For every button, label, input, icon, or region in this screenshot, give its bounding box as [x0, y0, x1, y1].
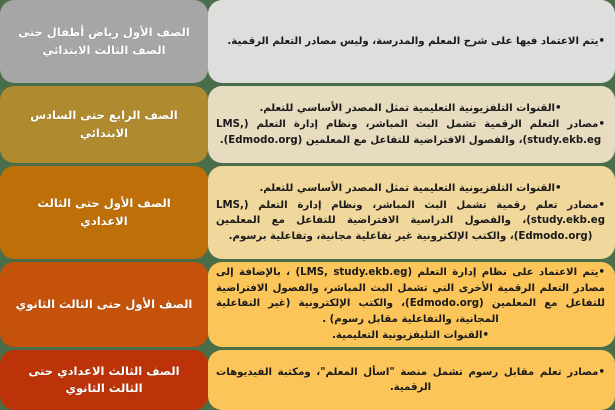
row-4-paragraph-1: •يتم الاعتماد على نظام إدارة التعلم (LMS… — [216, 265, 605, 327]
row-3-content-cell: •القنوات التلفزيونية التعليمية تمثل المص… — [208, 166, 615, 259]
row-4-content-cell: •يتم الاعتماد على نظام إدارة التعلم (LMS… — [208, 262, 615, 347]
row-3-grade-label: الصف الأول حتى الثالث الاعدادي — [12, 195, 196, 230]
row-2-paragraph-1: •القنوات التلفزيونية التعليمية تمثل المص… — [216, 101, 605, 117]
bullet-icon: • — [482, 330, 489, 341]
row-4-grade-label: الصف الأول حتى الثالث الثانوي — [16, 296, 193, 313]
table-row: •يتم الاعتماد فيها على شرح المعلم والمدر… — [0, 0, 615, 86]
bullet-icon: • — [598, 200, 605, 211]
row-3-paragraph-1: •القنوات التلفزيونية التعليمية تمثل المص… — [216, 181, 605, 197]
bullet-icon: • — [555, 103, 562, 114]
table-row: •مصادر تعلم مقابل رسوم تشمل منصة "اسأل ا… — [0, 350, 615, 410]
row-1-grade-cell: الصف الأول رياض أطفال حتى الصف الثالث ال… — [0, 0, 208, 83]
row-2-content-cell: •القنوات التلفزيونية التعليمية تمثل المص… — [208, 86, 615, 163]
bullet-icon: • — [598, 367, 605, 378]
row-5-grade-label: الصف الثالث الاعدادي حتى الثالث الثانوي — [12, 363, 196, 398]
row-5-paragraph-1: •مصادر تعلم مقابل رسوم تشمل منصة "اسأل ا… — [216, 365, 605, 396]
table-row: •القنوات التلفزيونية التعليمية تمثل المص… — [0, 166, 615, 262]
row-2-paragraph-2: •مصادر التعلم الرقمية تشمل البث المباشر،… — [216, 117, 605, 148]
row-1-grade-label: الصف الأول رياض أطفال حتى الصف الثالث ال… — [12, 24, 196, 59]
row-2-grade-label: الصف الرابع حتى السادس الابتدائي — [12, 107, 196, 142]
row-1-content-cell: •يتم الاعتماد فيها على شرح المعلم والمدر… — [208, 0, 615, 83]
bullet-icon: • — [598, 267, 605, 278]
bullet-icon: • — [598, 119, 605, 130]
row-3-paragraph-2: •مصادر تعلم رقمية تشمل البث المباشر، ونظ… — [216, 198, 605, 245]
row-5-grade-cell: الصف الثالث الاعدادي حتى الثالث الثانوي — [0, 350, 208, 410]
row-4-paragraph-2: •القنوات التليفزيونية التعليمية. — [216, 328, 605, 344]
table-row: •القنوات التلفزيونية التعليمية تمثل المص… — [0, 86, 615, 166]
grade-resources-table: •يتم الاعتماد فيها على شرح المعلم والمدر… — [0, 0, 615, 410]
row-3-grade-cell: الصف الأول حتى الثالث الاعدادي — [0, 166, 208, 259]
bullet-icon: • — [598, 36, 605, 47]
row-1-paragraph-1: •يتم الاعتماد فيها على شرح المعلم والمدر… — [227, 34, 605, 50]
row-2-grade-cell: الصف الرابع حتى السادس الابتدائي — [0, 86, 208, 163]
table-row: •يتم الاعتماد على نظام إدارة التعلم (LMS… — [0, 262, 615, 350]
bullet-icon: • — [555, 183, 562, 194]
row-4-grade-cell: الصف الأول حتى الثالث الثانوي — [0, 262, 208, 347]
row-5-content-cell: •مصادر تعلم مقابل رسوم تشمل منصة "اسأل ا… — [208, 350, 615, 410]
